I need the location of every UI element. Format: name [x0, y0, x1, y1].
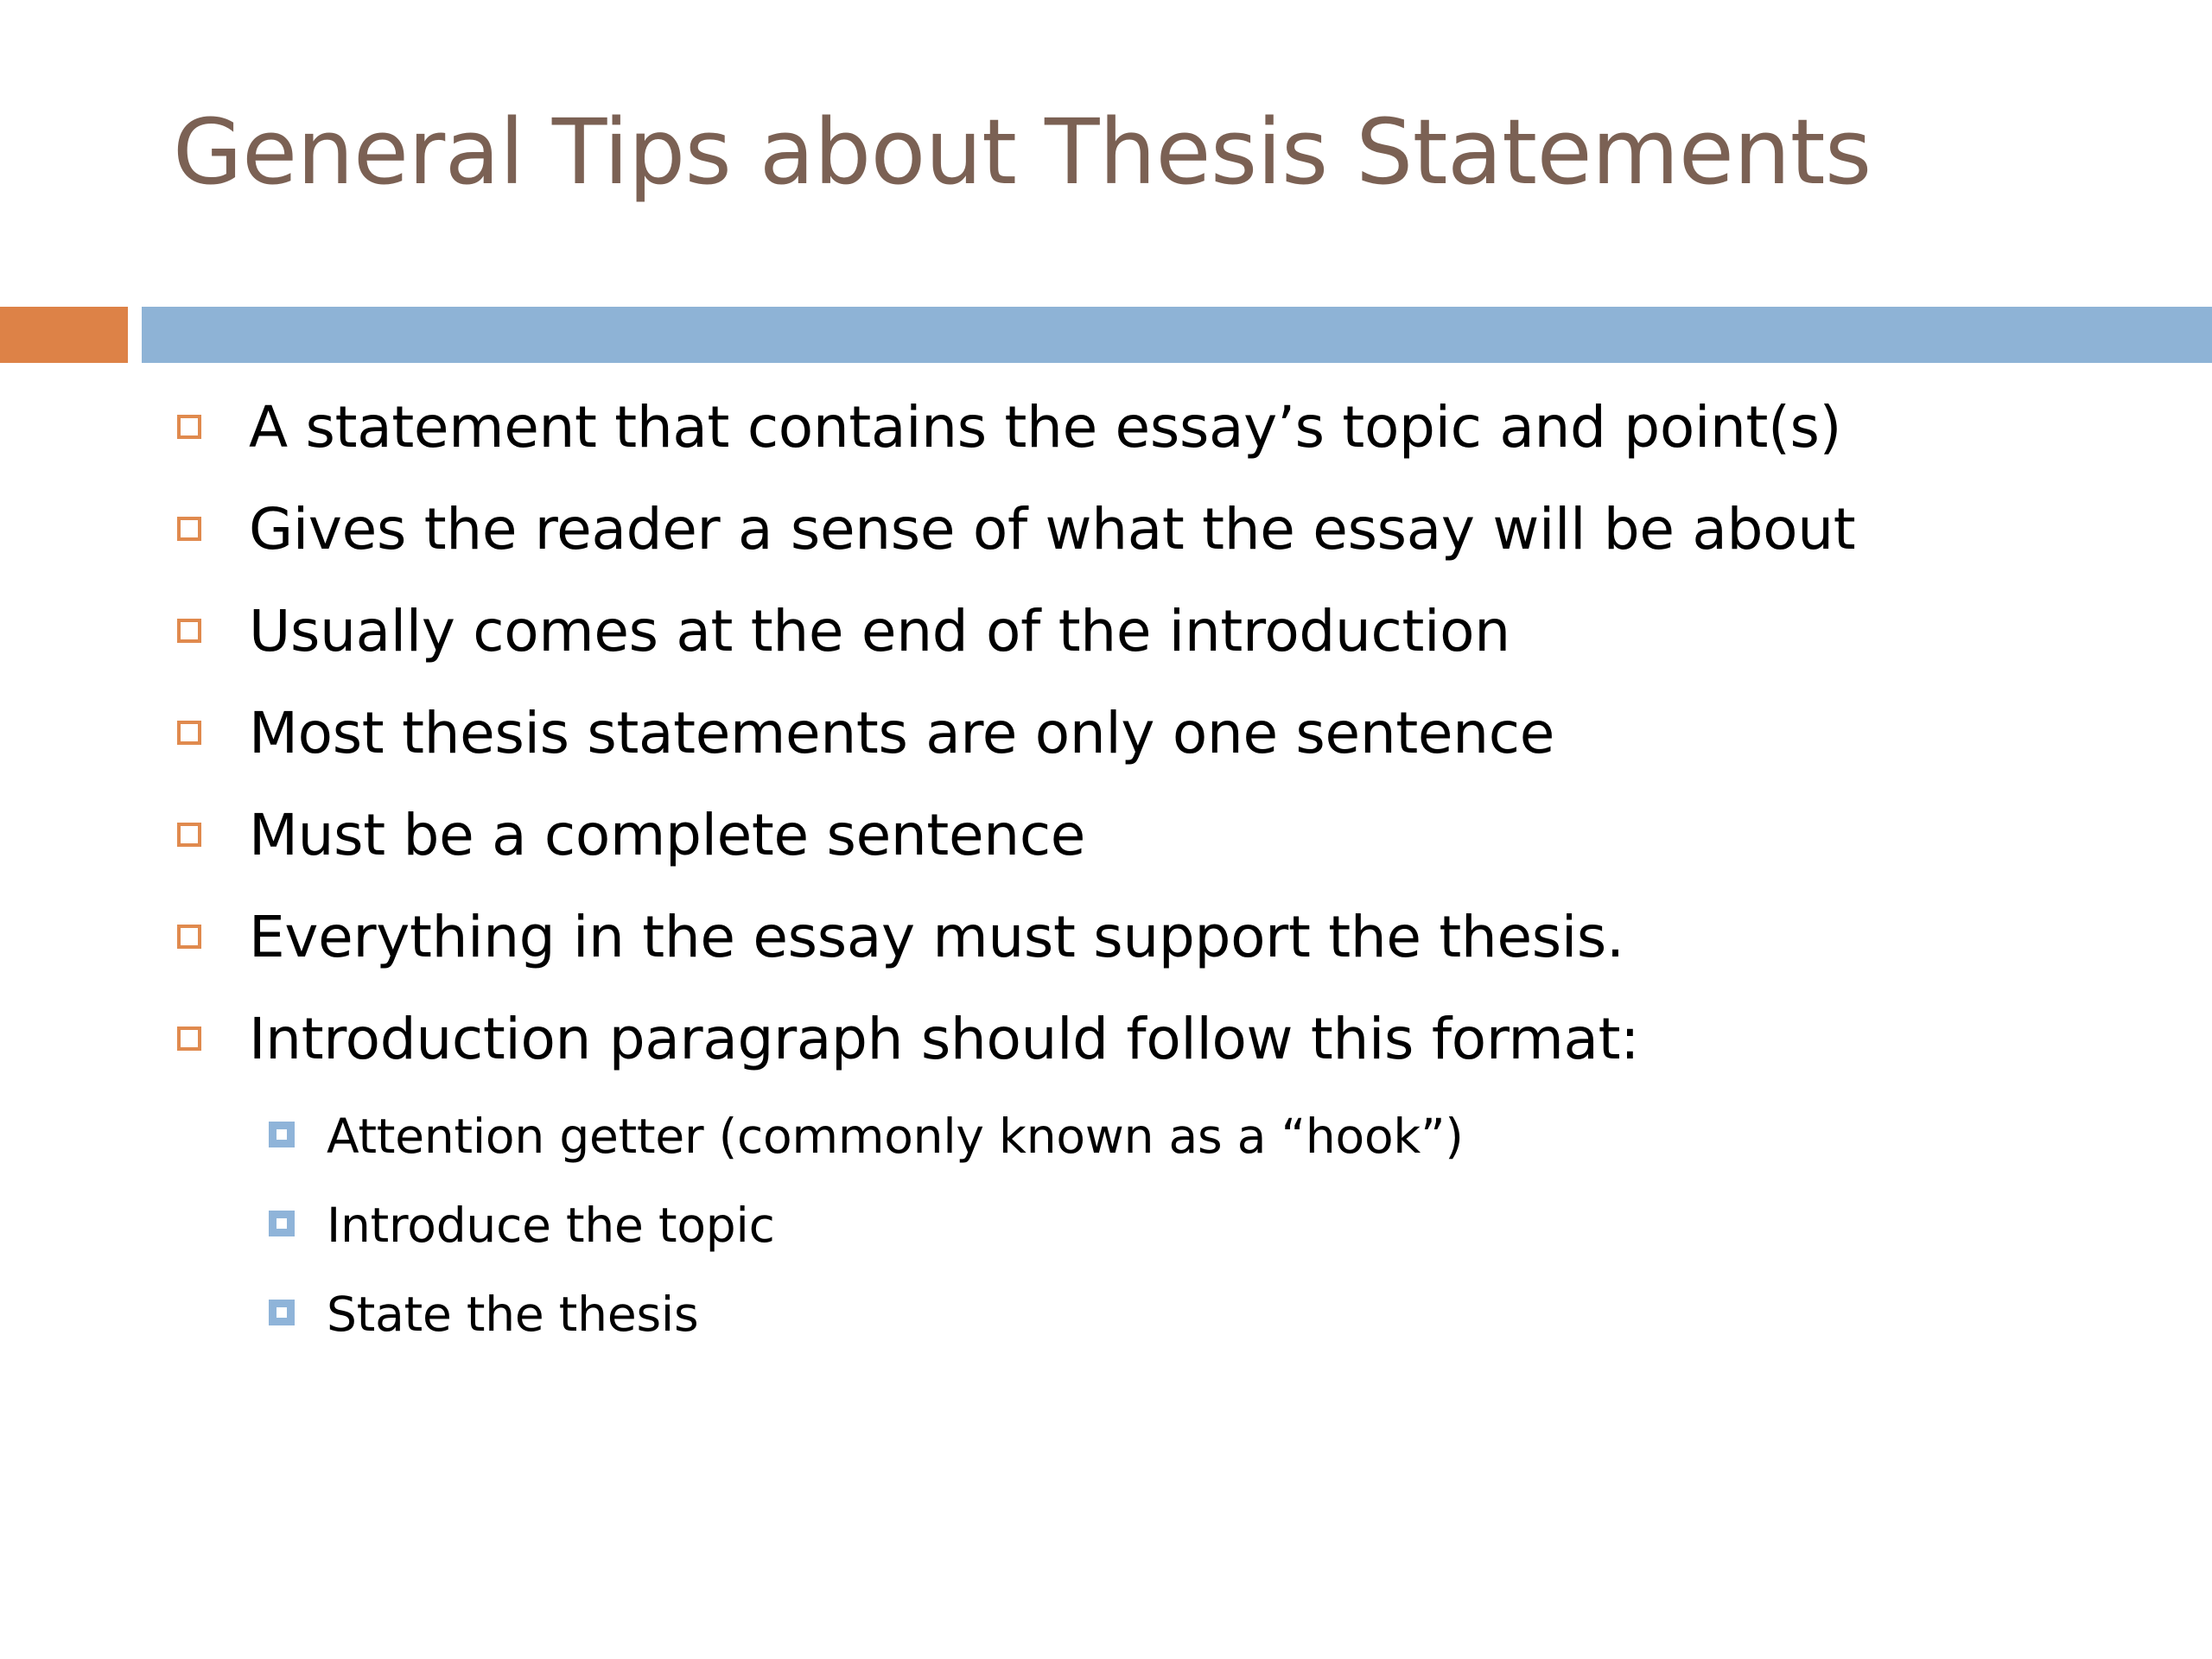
bullet-square-icon — [177, 721, 201, 745]
sub-bullet-square-icon — [269, 1122, 295, 1147]
list-item-label: Everything in the essay must support the… — [249, 900, 1624, 975]
page-title: General Tips about Thesis Statements — [173, 102, 2074, 202]
bullet-square-icon — [177, 619, 201, 643]
bullet-square-icon — [177, 823, 201, 847]
bullet-square-icon — [177, 1027, 201, 1051]
list-item: Introduction paragraph should follow thi… — [0, 1002, 2212, 1104]
list-item: Must be a complete sentence — [0, 798, 2212, 900]
list-item-label: Must be a complete sentence — [249, 798, 1085, 873]
sub-list-item-label: Attention getter (commonly known as a “h… — [327, 1104, 1464, 1168]
list-item: Gives the reader a sense of what the ess… — [0, 493, 2212, 594]
sub-list-item-label: State the thesis — [327, 1282, 698, 1346]
sub-bullet-square-icon — [269, 1300, 295, 1325]
sub-bullet-square-icon — [269, 1211, 295, 1236]
bullet-square-icon — [177, 925, 201, 949]
accent-bar-blue — [142, 307, 2212, 363]
list-item: Everything in the essay must support the… — [0, 900, 2212, 1002]
sub-list-item-label: Introduce the topic — [327, 1193, 775, 1257]
sub-list-item: Introduce the topic — [0, 1193, 2212, 1282]
bullet-square-icon — [177, 415, 201, 439]
presentation-slide: General Tips about Thesis Statements A s… — [0, 0, 2212, 1659]
list-item-label: Most thesis statements are only one sent… — [249, 696, 1554, 771]
bullet-list: A statement that contains the essay’s to… — [0, 391, 2212, 1371]
list-item: Usually comes at the end of the introduc… — [0, 594, 2212, 696]
list-item: A statement that contains the essay’s to… — [0, 391, 2212, 493]
sub-list-item: Attention getter (commonly known as a “h… — [0, 1104, 2212, 1193]
list-item-label: Introduction paragraph should follow thi… — [249, 1002, 1639, 1077]
sub-list-item: State the thesis — [0, 1282, 2212, 1371]
bullet-square-icon — [177, 517, 201, 541]
accent-bar-orange — [0, 307, 128, 363]
list-item-label: A statement that contains the essay’s to… — [249, 391, 1841, 465]
list-item-label: Gives the reader a sense of what the ess… — [249, 493, 1855, 567]
list-item: Most thesis statements are only one sent… — [0, 696, 2212, 798]
list-item-label: Usually comes at the end of the introduc… — [249, 594, 1510, 669]
